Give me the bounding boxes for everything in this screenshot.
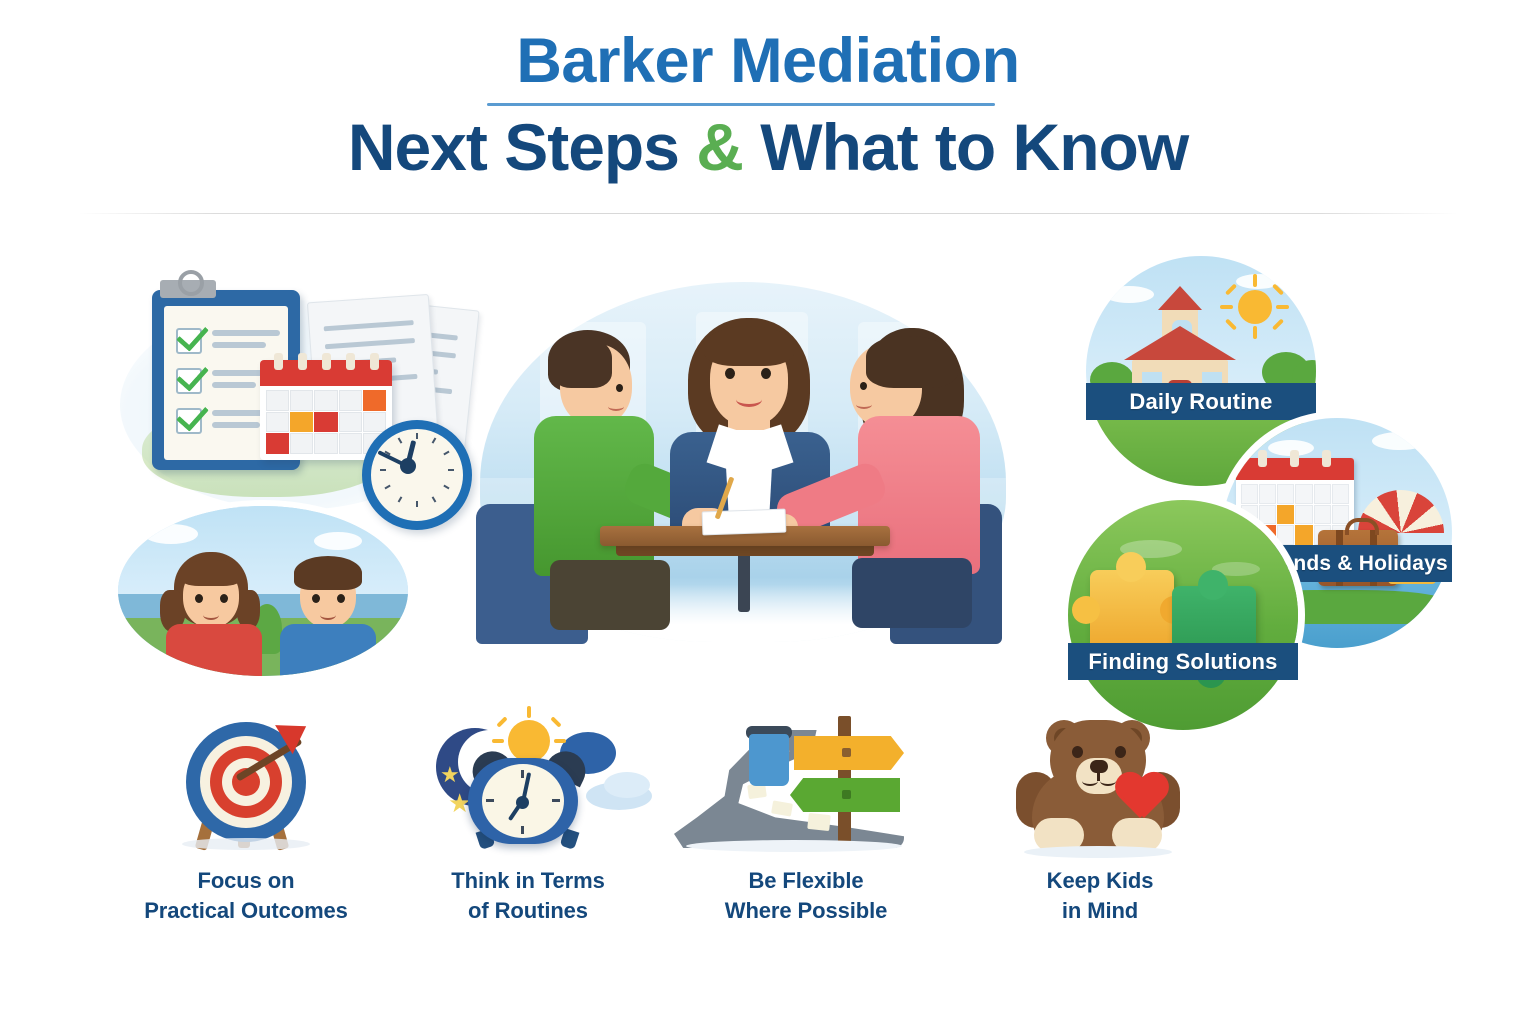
left-parent-hair-front	[550, 338, 612, 388]
small-sun-ray-5	[550, 716, 561, 727]
girl-shirt	[166, 624, 262, 676]
checklist-line-1b	[212, 342, 266, 348]
boy-shirt	[280, 624, 376, 676]
tip-keep-kids-in-mind[interactable]: Keep Kidsin Mind	[950, 706, 1250, 926]
girl-fringe	[180, 560, 242, 586]
mediator-fringe	[704, 326, 794, 366]
winding-road-signpost-icon	[656, 706, 956, 856]
tip-0-line2: Practical Outcomes	[144, 898, 348, 923]
weekends-cloud-2	[1372, 432, 1428, 450]
bubble-finding-solutions[interactable]	[1068, 500, 1298, 730]
subtitle-part-2: What to Know	[743, 110, 1188, 184]
calendar-ring-2	[298, 353, 307, 370]
schoolhouse-icon	[1110, 286, 1250, 396]
children-oval-frame	[118, 506, 408, 676]
girl-mouth	[203, 610, 219, 620]
trash-bin	[749, 734, 789, 786]
infographic-canvas: Barker Mediation Next Steps & What to Kn…	[0, 0, 1536, 1024]
holiday-cal-ring-3	[1322, 450, 1331, 467]
suitcase-handle	[1345, 518, 1379, 535]
road-dash-5	[807, 813, 831, 831]
tip-1-line1: Think in Terms	[451, 868, 604, 893]
holiday-cal-ring-2	[1290, 450, 1299, 467]
road-dash-4	[771, 800, 793, 816]
girl-eye-right	[220, 594, 228, 603]
checklist-line-3b	[212, 422, 260, 428]
tip-2-line1: Be Flexible	[748, 868, 863, 893]
puzzle-yellow-knob-left	[1072, 596, 1100, 624]
calendar-ring-5	[370, 353, 379, 370]
tip-label-think-routines: Think in Termsof Routines	[378, 866, 678, 926]
cloud-icon-right-2	[604, 772, 650, 798]
boy-mouth	[320, 610, 336, 620]
mediator-eye-left	[725, 368, 735, 379]
sun-small-icon	[508, 720, 550, 762]
notepad	[702, 509, 787, 536]
school-roof	[1124, 326, 1236, 360]
sun-ray-2	[1253, 326, 1257, 339]
sun-ray-4	[1276, 305, 1289, 309]
star-icon-1: ★	[440, 764, 460, 786]
mediation-scene	[470, 278, 1016, 678]
checklist-line-1a	[212, 330, 280, 336]
mediator-mouth	[736, 392, 762, 407]
child-girl	[162, 546, 278, 676]
tip-0-line1: Focus on	[198, 868, 295, 893]
boy-eye-right	[337, 594, 345, 603]
calendar-ring-3	[322, 353, 331, 370]
calendar-ring-4	[346, 353, 355, 370]
teddy-eye-left	[1072, 746, 1083, 758]
puzzle-yellow-knob-top	[1116, 552, 1146, 582]
calendar-grid	[266, 390, 386, 454]
subtitle-ampersand: &	[696, 110, 743, 184]
alarm-clock-day-night-icon: ★ ★	[378, 706, 678, 856]
page-subtitle: Next Steps & What to Know	[0, 113, 1536, 182]
heart-icon	[1114, 774, 1168, 824]
page-title-brand: Barker Mediation	[0, 28, 1536, 94]
tip-1-line2: of Routines	[468, 898, 588, 923]
clipboard-ring	[178, 270, 204, 296]
school-tower-roof	[1158, 286, 1202, 310]
bubble-label-finding-solutions: Finding Solutions	[1068, 643, 1298, 680]
target-with-arrow-icon	[96, 706, 396, 856]
teddy-eye-right	[1115, 746, 1126, 758]
planning-documents-cluster	[112, 252, 482, 522]
girl-eye-left	[195, 594, 203, 603]
subtitle-part-1: Next Steps	[348, 110, 696, 184]
participant-parent-right	[788, 328, 988, 628]
mediator-eye-right	[761, 368, 771, 379]
children-photo-bubble	[118, 506, 408, 676]
puzzle-green-knob-top	[1198, 570, 1228, 600]
tip-2-line2: Where Possible	[725, 898, 887, 923]
right-parent-fringe	[866, 336, 958, 388]
tip-label-focus-outcomes: Focus onPractical Outcomes	[96, 866, 396, 926]
tip-be-flexible[interactable]: Be FlexibleWhere Possible	[656, 706, 956, 926]
tip-think-routines[interactable]: ★ ★ Think in Termsof Routines	[378, 706, 678, 926]
calendar-ring-1	[274, 353, 283, 370]
small-sun-ray-4	[496, 716, 507, 727]
sun-ray-1	[1253, 274, 1257, 287]
teddy-bear-with-heart-icon	[950, 706, 1250, 856]
boy-eye-left	[312, 594, 320, 603]
tip-label-keep-kids-in-mind: Keep Kidsin Mind	[950, 866, 1250, 926]
header-divider	[78, 213, 1458, 214]
boy-hair	[294, 556, 362, 590]
child-boy	[278, 546, 394, 676]
small-sun-ray-3	[554, 739, 566, 743]
tip-label-be-flexible: Be FlexibleWhere Possible	[656, 866, 956, 926]
title-underline-rule	[487, 103, 995, 106]
small-sun-ray-2	[492, 739, 504, 743]
checklist-line-2b	[212, 382, 256, 388]
tip-3-line2: in Mind	[1062, 898, 1138, 923]
header: Barker Mediation Next Steps & What to Kn…	[0, 0, 1536, 214]
holiday-cal-ring-1	[1258, 450, 1267, 467]
tip-focus-outcomes[interactable]: Focus onPractical Outcomes	[96, 706, 396, 926]
small-sun-ray-1	[527, 706, 531, 718]
bubble-label-daily-routine: Daily Routine	[1086, 383, 1316, 420]
tip-3-line1: Keep Kids	[1047, 868, 1154, 893]
